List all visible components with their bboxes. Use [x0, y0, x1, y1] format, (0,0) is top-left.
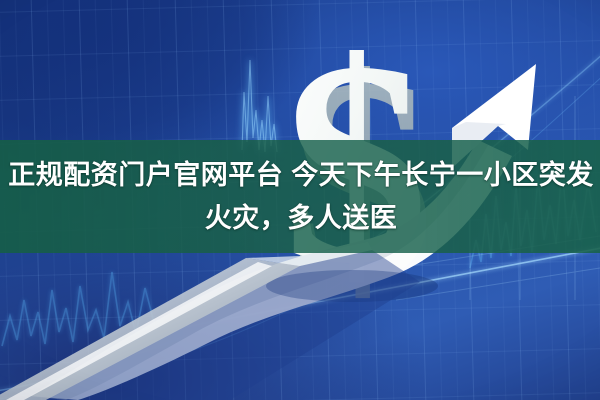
banner-image: $ $: [0, 0, 600, 400]
caption-line-2: 火灾，多人送医: [203, 198, 398, 238]
caption-text-block: 正规配资门户官网平台 今天下午长宁一小区突发 火灾，多人送医: [0, 140, 600, 253]
caption-line-1: 正规配资门户官网平台 今天下午长宁一小区突发: [6, 155, 594, 195]
